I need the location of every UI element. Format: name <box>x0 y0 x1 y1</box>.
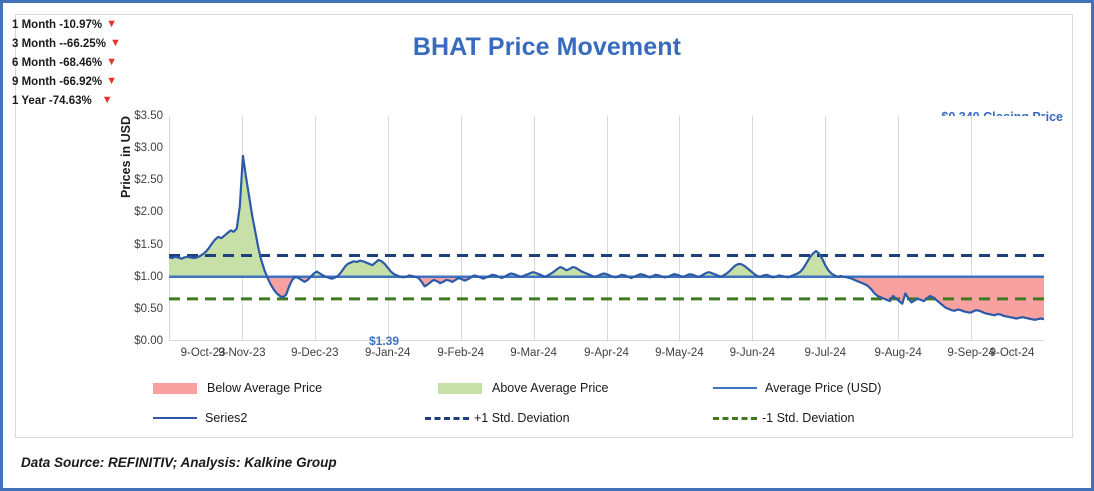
perf-label-9-month: 9 Month -66.92% <box>12 76 102 88</box>
legend-line-average-price <box>713 387 757 389</box>
y-axis-ticks: $3.50$3.00$2.50$2.00$1.50$1.00$0.50$0.00 <box>115 116 163 341</box>
legend-label: Below Average Price <box>207 381 322 395</box>
plot-area: $1.39 <box>169 116 1044 341</box>
legend-swatch-above-average-price <box>438 383 482 394</box>
plot-background <box>169 116 1044 341</box>
x-axis-tick-label: 9-Feb-24 <box>437 347 484 359</box>
x-axis-tick-label: 9-Jan-24 <box>365 347 410 359</box>
x-axis-tick-label: 9-Dec-23 <box>291 347 338 359</box>
legend-item-below-average-price[interactable]: Below Average Price <box>153 381 322 395</box>
x-axis-tick-label: 9-Nov-23 <box>218 347 265 359</box>
peak-price-label: $1.39 <box>369 334 399 348</box>
x-axis-tick-label: 9-Oct-24 <box>990 347 1035 359</box>
down-arrow-icon: ▼ <box>106 76 117 87</box>
down-arrow-icon: ▼ <box>102 95 113 106</box>
legend-swatch-below-average-price <box>153 383 197 394</box>
y-axis-tick-label: $0.00 <box>119 335 163 347</box>
chart-title: BHAT Price Movement <box>3 33 1091 62</box>
legend-item-series2[interactable]: Series2 <box>153 411 247 425</box>
x-axis-tick-label: 9-Apr-24 <box>584 347 629 359</box>
legend-label: Average Price (USD) <box>765 381 881 395</box>
y-axis-tick-label: $2.50 <box>119 174 163 186</box>
legend-line-series2 <box>153 417 197 419</box>
x-axis-tick-label: 9-Mar-24 <box>510 347 557 359</box>
legend-item-average-price[interactable]: Average Price (USD) <box>713 381 881 395</box>
perf-row-1-year: 1 Year -74.63% ▼ <box>12 91 172 110</box>
x-axis-tick-label: 9-Sep-24 <box>947 347 994 359</box>
legend-dash-minus-one-std-deviation <box>713 417 757 420</box>
legend-item-above-average-price[interactable]: Above Average Price <box>438 381 609 395</box>
down-arrow-icon: ▼ <box>106 19 117 30</box>
legend-label: -1 Std. Deviation <box>762 411 854 425</box>
y-axis-tick-label: $2.00 <box>119 206 163 218</box>
data-source-note: Data Source: REFINITIV; Analysis: Kalkin… <box>21 455 337 470</box>
legend-label: Above Average Price <box>492 381 609 395</box>
chart-legend: Below Average PriceAbove Average PriceAv… <box>153 381 943 433</box>
legend-label: +1 Std. Deviation <box>474 411 570 425</box>
legend-item-minus-one-std-deviation[interactable]: -1 Std. Deviation <box>713 411 854 425</box>
x-axis-ticks: 9-Oct-239-Nov-239-Dec-239-Jan-249-Feb-24… <box>169 347 1044 363</box>
y-axis-tick-label: $3.50 <box>119 110 163 122</box>
x-axis-tick-label: 9-May-24 <box>655 347 704 359</box>
legend-item-plus-one-std-deviation[interactable]: +1 Std. Deviation <box>425 411 570 425</box>
y-axis-tick-label: $1.50 <box>119 239 163 251</box>
legend-label: Series2 <box>205 411 247 425</box>
perf-label-1-year: 1 Year -74.63% <box>12 95 92 107</box>
perf-label-1-month: 1 Month -10.97% <box>12 19 102 31</box>
price-chart-svg <box>169 116 1044 341</box>
y-axis-tick-label: $0.50 <box>119 303 163 315</box>
perf-row-1-month: 1 Month -10.97% ▼ <box>12 15 172 34</box>
x-axis-tick-label: 9-Jun-24 <box>730 347 775 359</box>
x-axis-tick-label: 9-Jul-24 <box>804 347 846 359</box>
chart-container: 1 Month -10.97% ▼ 3 Month --66.25% ▼ 6 M… <box>0 0 1094 491</box>
perf-row-9-month: 9 Month -66.92% ▼ <box>12 72 172 91</box>
y-axis-tick-label: $1.00 <box>119 271 163 283</box>
performance-stats: 1 Month -10.97% ▼ 3 Month --66.25% ▼ 6 M… <box>12 15 172 110</box>
y-axis-tick-label: $3.00 <box>119 142 163 154</box>
legend-dash-plus-one-std-deviation <box>425 417 469 420</box>
x-axis-tick-label: 9-Aug-24 <box>875 347 922 359</box>
